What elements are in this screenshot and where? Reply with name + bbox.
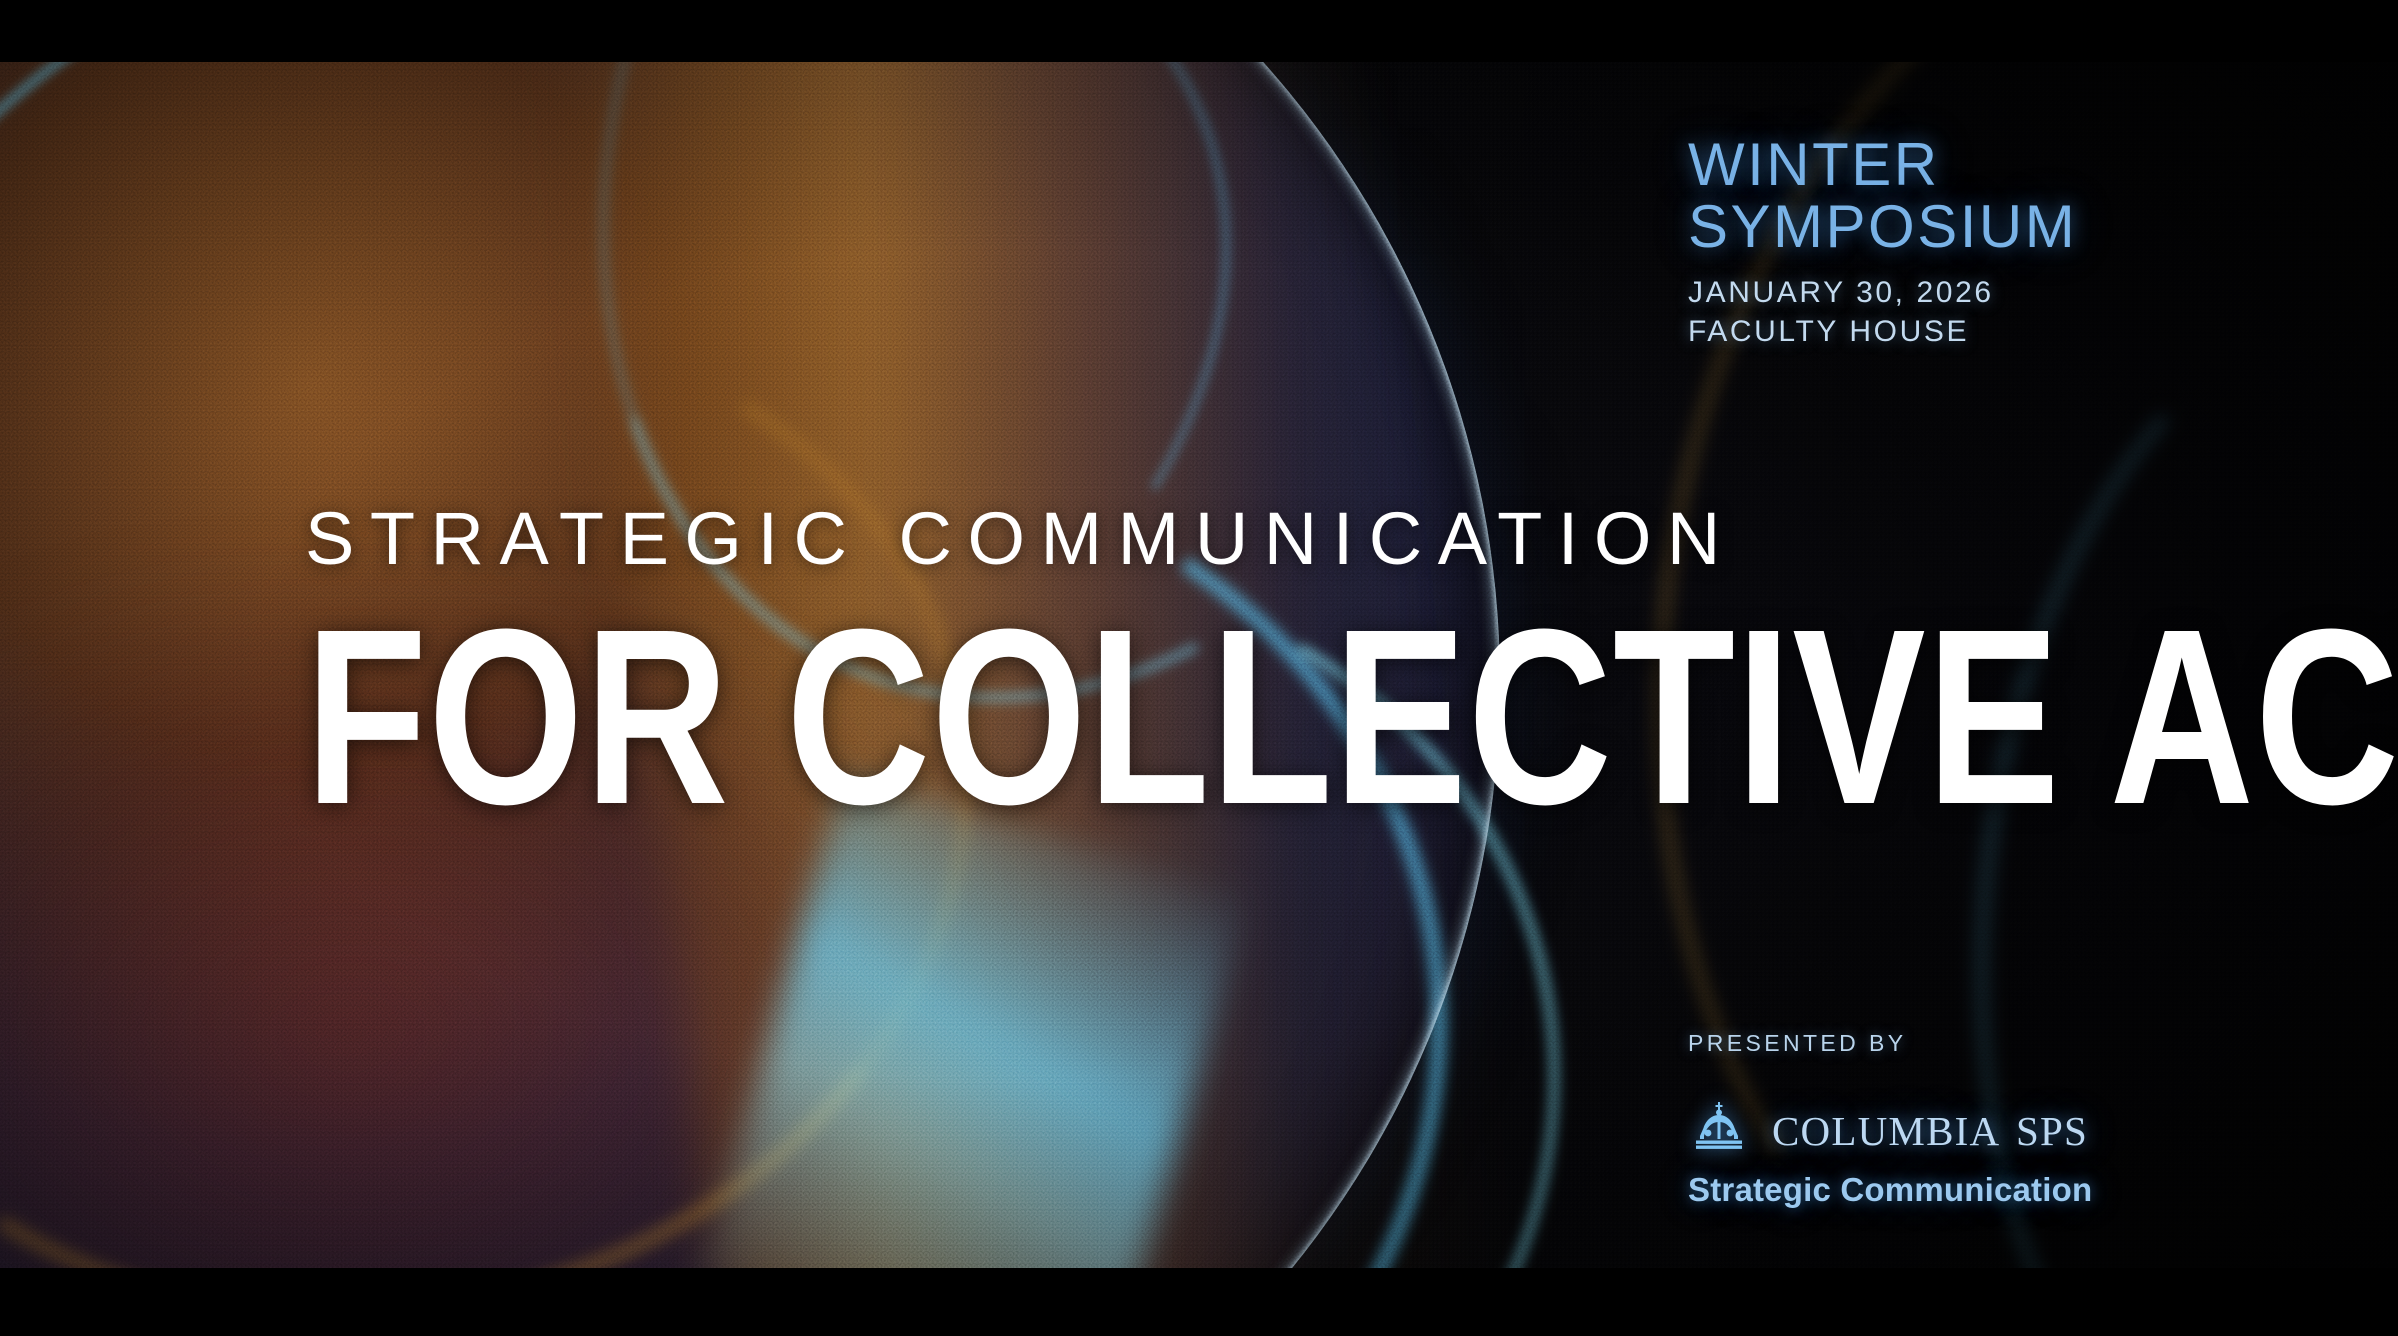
columbia-sps-wordmark: Columbia SPS <box>1772 1097 2088 1155</box>
event-venue: FACULTY HOUSE <box>1688 312 2388 352</box>
event-info-block: WINTER SYMPOSIUM JANUARY 30, 2026 FACULT… <box>1688 134 2388 352</box>
letterbox-bar-bottom <box>0 1268 2398 1336</box>
event-title-line-1: WINTER <box>1688 134 2388 196</box>
event-date: JANUARY 30, 2026 <box>1688 273 2388 313</box>
columbia-sps-logo: Columbia SPS <box>1688 1097 2388 1155</box>
headline-group: STRATEGIC COMMUNICATION FOR COLLECTIVE A… <box>305 502 2075 832</box>
headline-eyebrow: STRATEGIC COMMUNICATION <box>305 502 2075 576</box>
headline-main: FOR COLLECTIVE ACTION <box>305 602 1721 832</box>
columbia-crown-icon <box>1688 1102 1750 1150</box>
background-artwork: WINTER SYMPOSIUM JANUARY 30, 2026 FACULT… <box>0 62 2398 1268</box>
poster-stage: WINTER SYMPOSIUM JANUARY 30, 2026 FACULT… <box>0 0 2398 1336</box>
program-unit-name: Strategic Communication <box>1688 1171 2388 1209</box>
letterbox-bar-top <box>0 0 2398 62</box>
presented-by-label: PRESENTED BY <box>1688 1030 2388 1057</box>
presenter-block: PRESENTED BY <box>1688 1030 2388 1209</box>
poster-content: WINTER SYMPOSIUM JANUARY 30, 2026 FACULT… <box>0 62 2398 1268</box>
event-title-line-2: SYMPOSIUM <box>1688 196 2388 258</box>
